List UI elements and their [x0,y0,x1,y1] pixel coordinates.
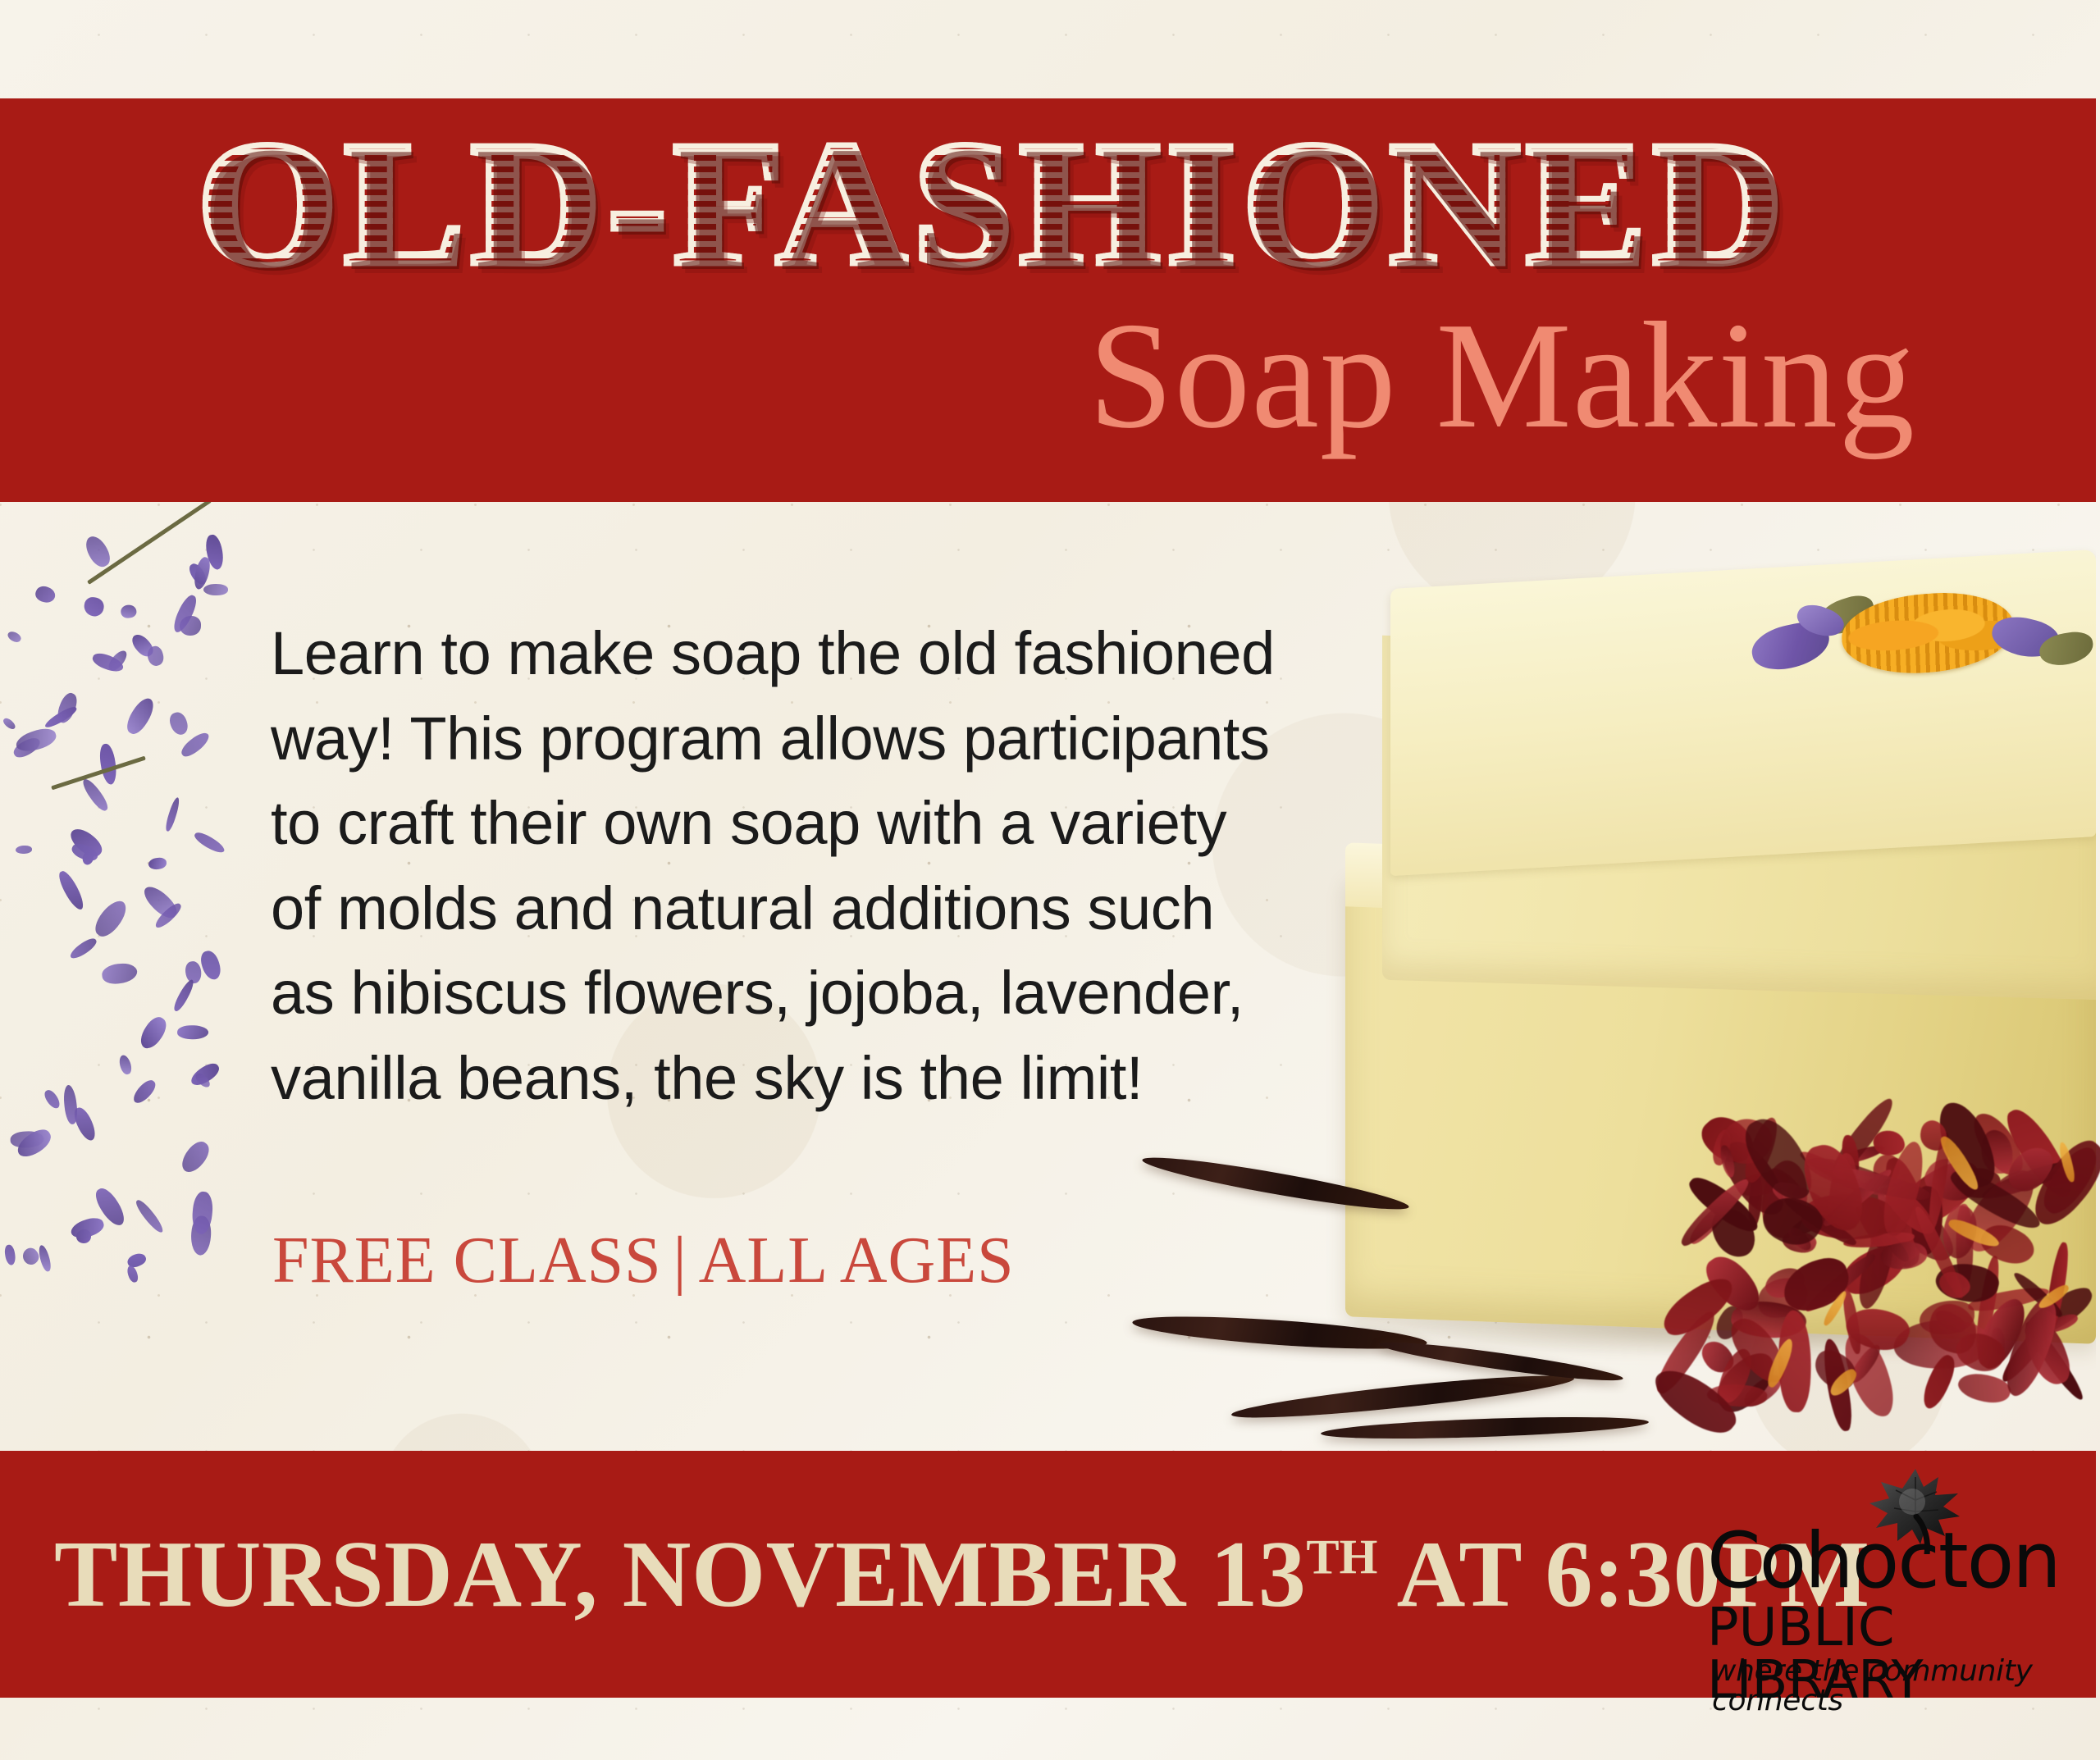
tagline-all-ages: ALL AGES [699,1224,1015,1297]
lavender-bud [136,1013,171,1051]
page-title-text: OLD-FASHIONED [197,115,1789,294]
lavender-bud [82,532,114,571]
lavender-bud [56,869,87,912]
event-datetime: THURSDAY, NOVEMBER 13TH AT 6:30PM [54,1527,1870,1622]
lavender-bud [130,1077,158,1106]
lavender-bud [203,584,228,596]
lavender-bud [171,978,196,1013]
library-logo: Cohocton PUBLIC LIBRARY where the commun… [1702,1472,2055,1689]
poster: OLD-FASHIONED Soap Making Learn to make … [0,0,2100,1760]
lavender-bud [198,948,223,982]
lavender-bud [167,710,190,737]
lavender-bud [101,962,139,986]
lavender-bud [37,1243,52,1272]
headline-block: OLD-FASHIONED Soap Making [0,98,2096,502]
lavender-bud [2,717,17,732]
lavender-bud [89,896,131,942]
lavender-bud [83,595,105,618]
lavender-bud [16,845,32,854]
lavender-bud [126,1265,139,1284]
logo-slogan: where the community connects [1702,1657,2047,1716]
lavender-bud [13,1125,55,1161]
lavender-bud [148,857,167,870]
lavender-bud [192,829,226,855]
lavender-bud [62,1084,79,1124]
lavender-bud [68,936,99,961]
lavender-bud [33,583,57,605]
lavender-scatter-decoration [0,525,279,1329]
tagline-free-class: FREE CLASS [272,1224,662,1297]
lavender-bud [176,1138,212,1176]
soap-bar-top-surface [1390,549,2096,876]
logo-name: Cohocton [1702,1523,2038,1600]
description-text: Learn to make soap the old fashioned way… [271,611,1288,1121]
tagline: FREE CLASS|ALL AGES [272,1228,1015,1293]
page-subtitle: Soap Making [0,299,1915,452]
tagline-divider: | [662,1224,699,1297]
event-date: THURSDAY, NOVEMBER 13 [54,1522,1306,1627]
lavender-stem [51,756,146,791]
lavender-bud [7,629,23,644]
lavender-bud [134,1197,167,1235]
lavender-bud [19,1246,41,1268]
vanilla-bean-pod [1321,1413,1650,1443]
vanilla-bean-pod [1140,1150,1411,1218]
lavender-bud [122,695,158,738]
lavender-bud [121,604,138,618]
lavender-bud [176,1024,208,1039]
vanilla-bean-pod [1230,1368,1575,1425]
page-title: OLD-FASHIONED [0,115,2005,294]
vanilla-bean-pod [1131,1310,1427,1355]
vanilla-beans-decoration [1132,1148,1706,1476]
hibiscus-flowers-decoration [1657,1091,2100,1443]
date-ordinal-suffix: TH [1306,1530,1377,1584]
lavender-bud [118,1054,133,1076]
lavender-bud [4,1244,16,1265]
lavender-bud [42,1087,62,1110]
lavender-bud [164,796,182,832]
